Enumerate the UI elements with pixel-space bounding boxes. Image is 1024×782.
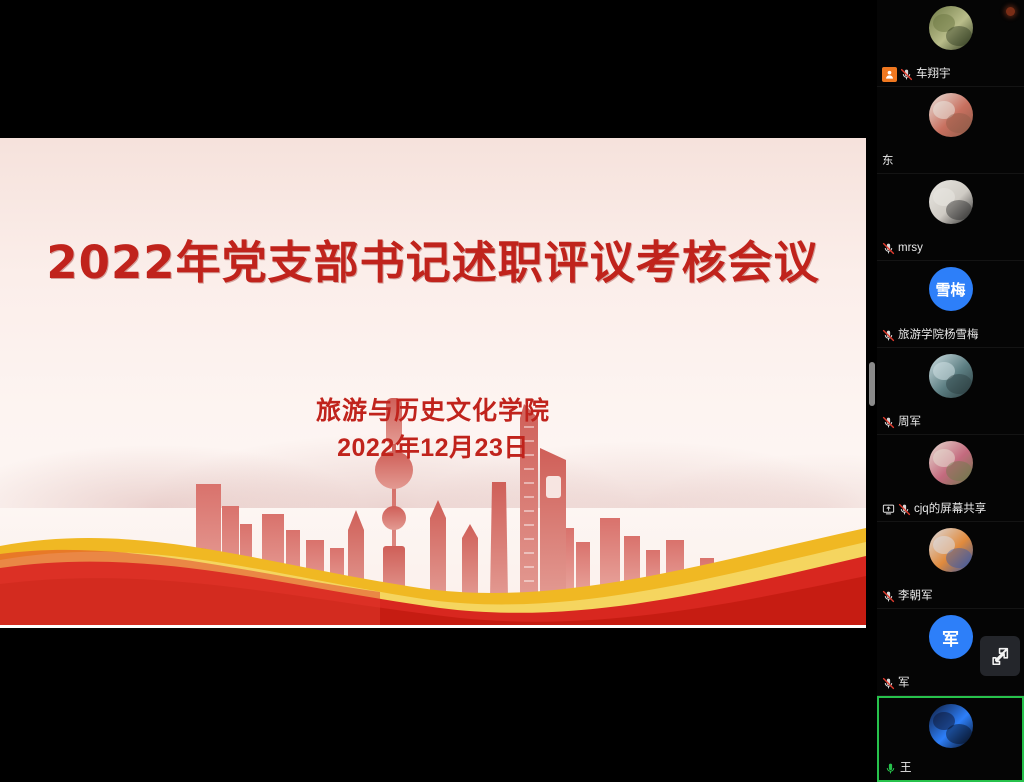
shared-screen-region[interactable]: 2022年党支部书记述职评议考核会议 旅游与历史文化学院 2022年12月23日 bbox=[0, 0, 866, 767]
mic-unmuted-icon[interactable] bbox=[884, 762, 897, 775]
avatar-photo bbox=[929, 180, 973, 224]
mic-muted-icon[interactable] bbox=[882, 329, 895, 342]
participant-name: 旅游学院杨雪梅 bbox=[898, 328, 979, 343]
participant-name: 东 bbox=[882, 154, 894, 169]
participant-tile[interactable]: 周军 bbox=[877, 348, 1024, 435]
mic-muted-icon bbox=[882, 329, 895, 342]
collapse-arrow-icon bbox=[989, 645, 1011, 667]
participant-name: mrsy bbox=[898, 241, 923, 256]
red-gold-ribbon-decoration bbox=[0, 468, 866, 628]
participant-name-row: 李朝军 bbox=[882, 589, 1020, 604]
avatar-photo bbox=[929, 528, 973, 572]
host-person-icon bbox=[884, 69, 895, 80]
avatar-photo bbox=[929, 441, 973, 485]
participant-tile[interactable]: 车翔宇 bbox=[877, 0, 1024, 87]
mic-muted-icon bbox=[882, 242, 895, 255]
participant-name: 周军 bbox=[898, 415, 921, 430]
participant-name-row: 车翔宇 bbox=[882, 67, 1020, 82]
slide-title: 2022年党支部书记述职评议考核会议 bbox=[0, 226, 866, 291]
avatar-photo bbox=[929, 6, 973, 50]
avatar-photo bbox=[929, 93, 973, 137]
participant-name-row: 军 bbox=[882, 676, 1020, 691]
avatar-initials: 雪梅 bbox=[929, 267, 973, 311]
host-badge-icon bbox=[882, 67, 897, 82]
collapse-panel-button[interactable] bbox=[980, 636, 1020, 676]
mic-muted-icon[interactable] bbox=[882, 242, 895, 255]
participant-tile[interactable]: 雪梅旅游学院杨雪梅 bbox=[877, 261, 1024, 348]
mic-muted-icon bbox=[882, 590, 895, 603]
avatar-initials: 军 bbox=[929, 615, 973, 659]
mic-muted-icon bbox=[882, 677, 895, 690]
participant-tile[interactable]: 东 bbox=[877, 87, 1024, 174]
participant-name: 王 bbox=[900, 761, 912, 776]
mic-muted-icon[interactable] bbox=[900, 68, 913, 81]
participant-name-row: cjq的屏幕共享 bbox=[882, 502, 1020, 517]
participant-name: 军 bbox=[898, 676, 910, 691]
mic-muted-icon bbox=[898, 503, 911, 516]
participant-name-row: 周军 bbox=[882, 415, 1020, 430]
slide-bottom-edge bbox=[0, 625, 866, 628]
participant-name-row: 东 bbox=[882, 154, 1020, 169]
share-scrollbar-thumb[interactable] bbox=[869, 362, 875, 406]
slide-subtitle-organization: 旅游与历史文化学院 bbox=[0, 391, 866, 427]
mic-muted-icon[interactable] bbox=[882, 416, 895, 429]
mic-unmuted-icon bbox=[884, 762, 897, 775]
participant-name-row: mrsy bbox=[882, 241, 1020, 256]
mic-muted-icon bbox=[882, 416, 895, 429]
screen-share-icon bbox=[882, 503, 895, 516]
mic-muted-icon[interactable] bbox=[882, 590, 895, 603]
participant-tile[interactable]: 李朝军 bbox=[877, 522, 1024, 609]
participant-tile[interactable]: cjq的屏幕共享 bbox=[877, 435, 1024, 522]
presentation-slide[interactable]: 2022年党支部书记述职评议考核会议 旅游与历史文化学院 2022年12月23日 bbox=[0, 138, 866, 628]
mic-muted-icon[interactable] bbox=[882, 677, 895, 690]
screen-share-icon bbox=[882, 503, 895, 516]
slide-subtitle-date: 2022年12月23日 bbox=[0, 428, 866, 464]
participant-tile[interactable]: mrsy bbox=[877, 174, 1024, 261]
avatar-photo bbox=[929, 704, 973, 748]
participant-name: cjq的屏幕共享 bbox=[914, 502, 986, 517]
mic-muted-icon bbox=[900, 68, 913, 81]
participant-name: 李朝军 bbox=[898, 589, 933, 604]
avatar-photo bbox=[929, 354, 973, 398]
mic-muted-icon[interactable] bbox=[898, 503, 911, 516]
participant-name-row: 旅游学院杨雪梅 bbox=[882, 328, 1020, 343]
meeting-window: 2022年党支部书记述职评议考核会议 旅游与历史文化学院 2022年12月23日… bbox=[0, 0, 1024, 767]
recording-indicator-dot bbox=[1006, 7, 1015, 16]
participant-name: 车翔宇 bbox=[916, 67, 951, 82]
participant-tile[interactable]: 王 bbox=[877, 696, 1024, 782]
participant-name-row: 王 bbox=[884, 761, 1018, 776]
